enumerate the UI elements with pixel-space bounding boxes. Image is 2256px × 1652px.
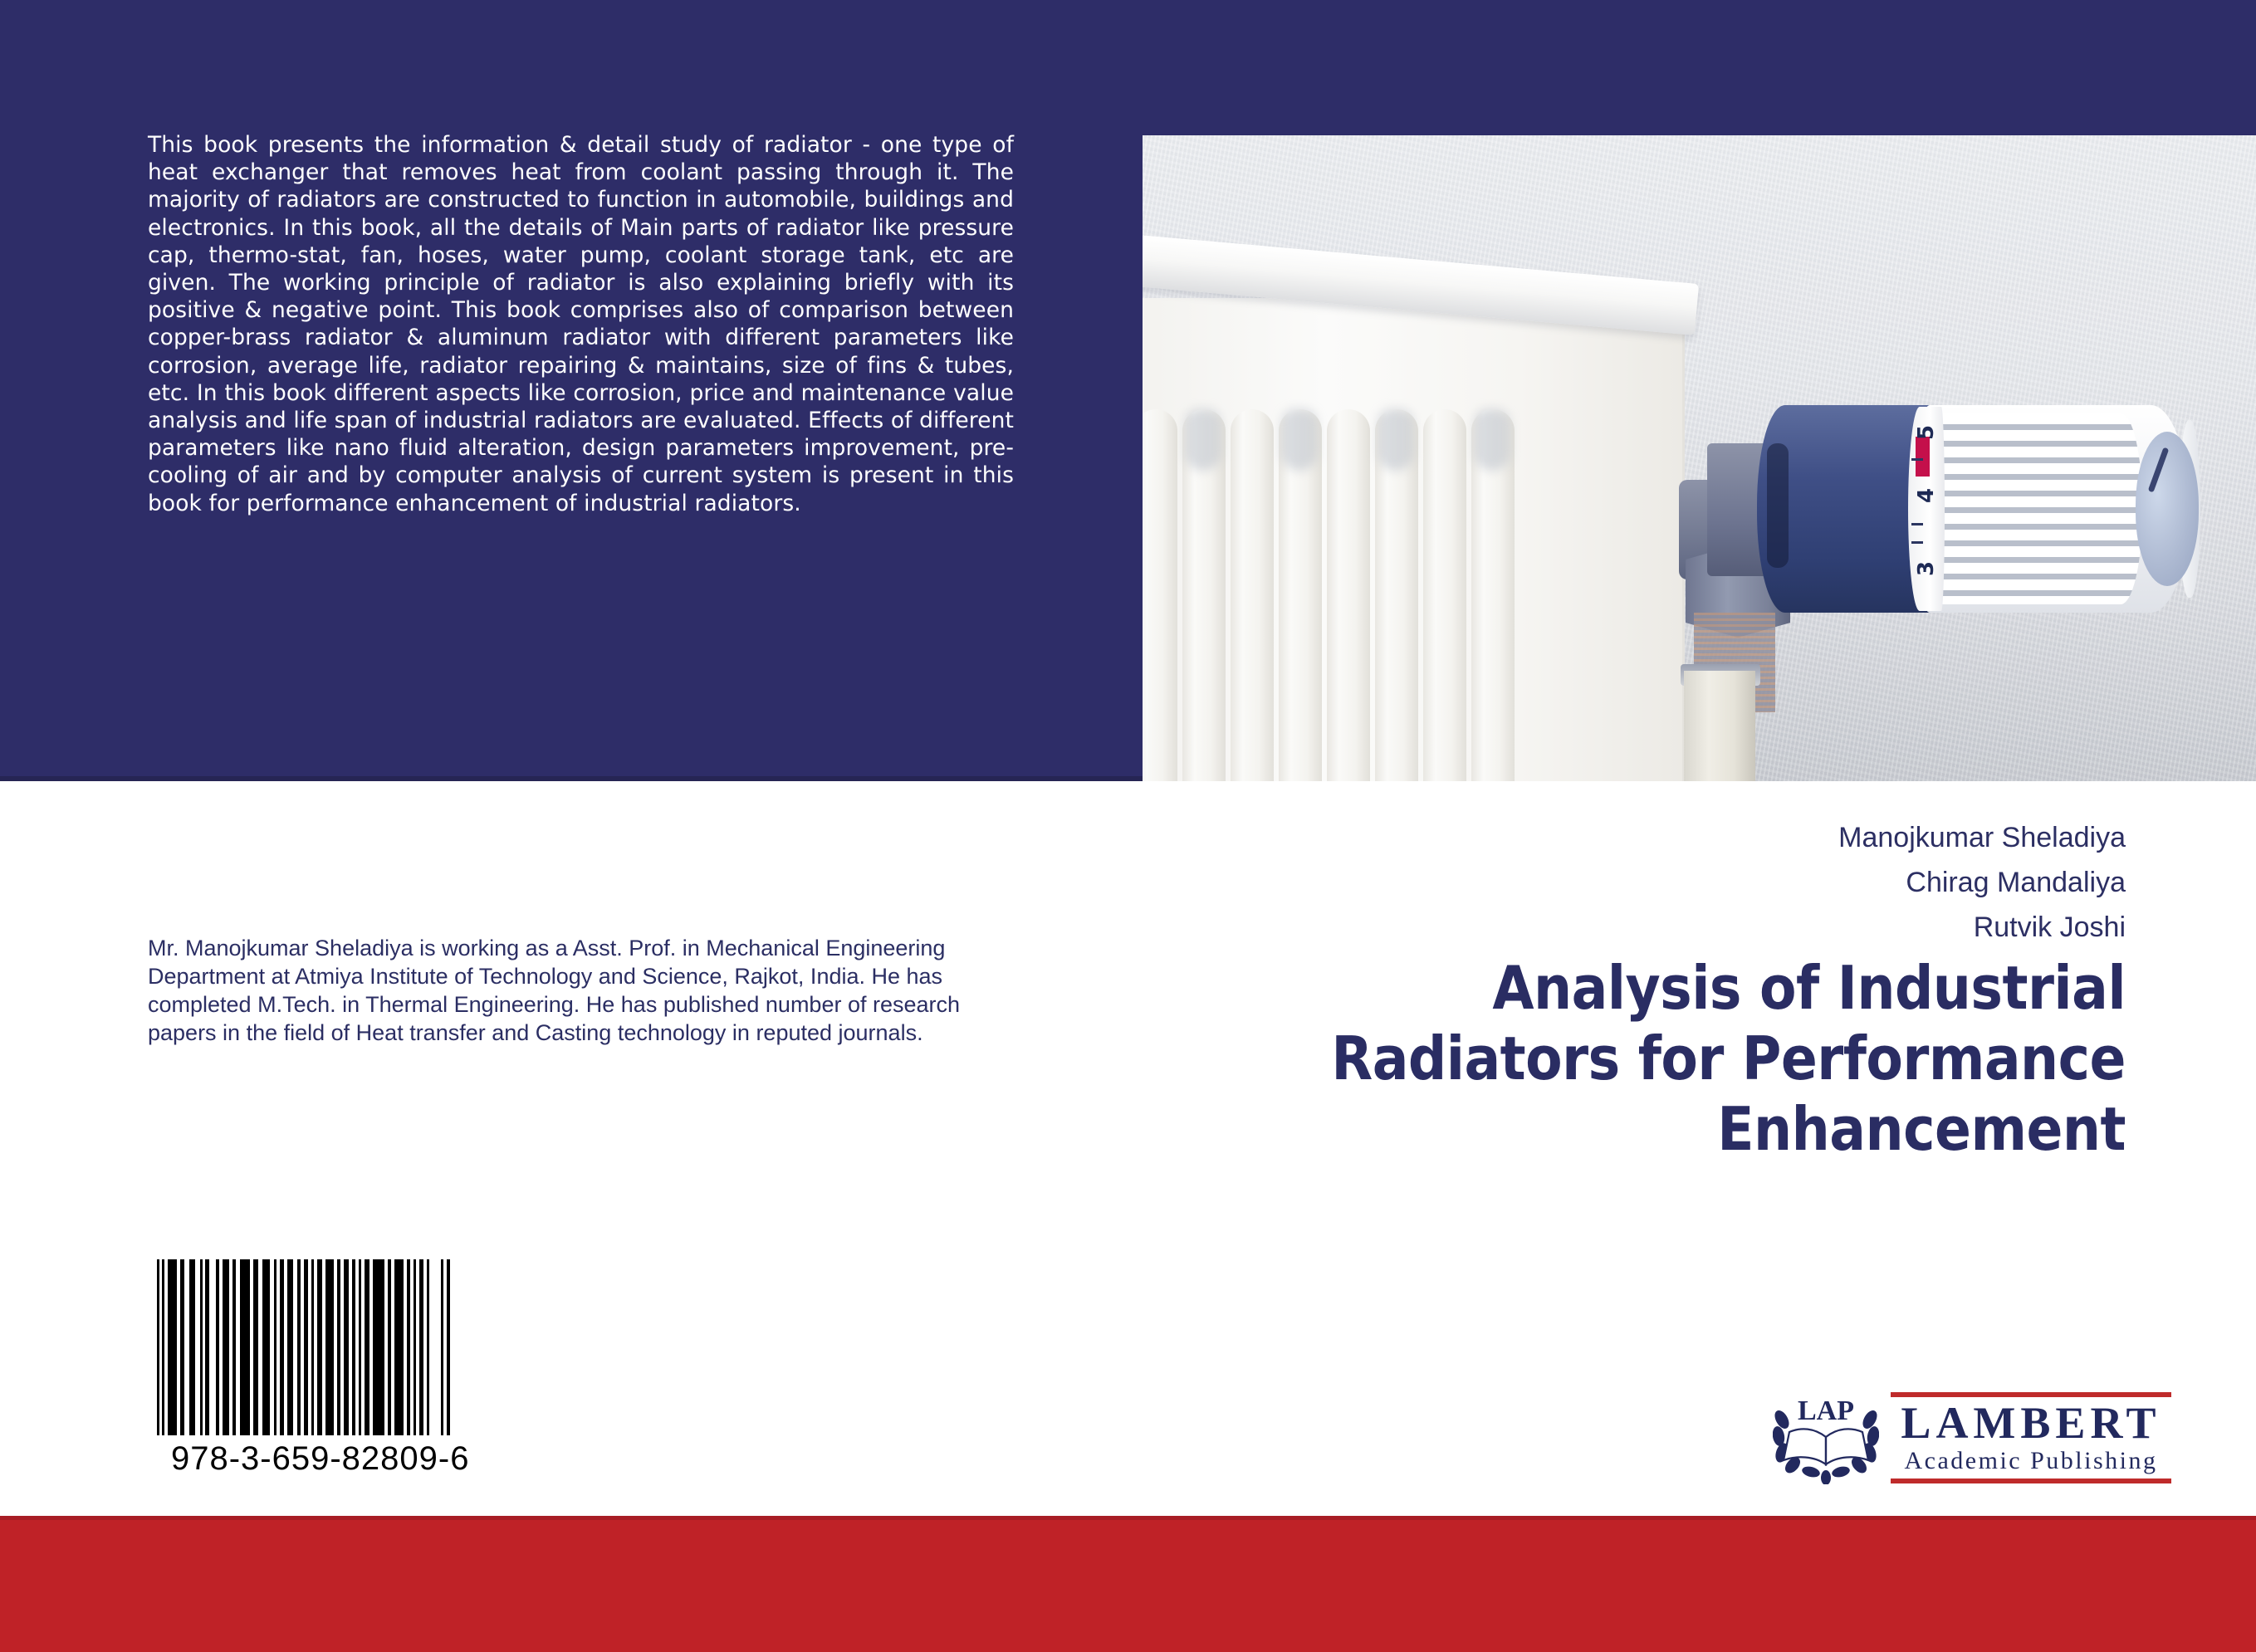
author-biography: Mr. Manojkumar Sheladiya is working as a… <box>148 934 991 1047</box>
book-title: Analysis of Industrial Radiators for Per… <box>1187 953 2126 1165</box>
radiator-fin <box>1327 409 1370 781</box>
dial-tick <box>1911 541 1923 544</box>
publisher-tagline: Academic Publishing <box>1891 1447 2171 1478</box>
radiator-fin <box>1143 409 1177 781</box>
radiator-fins <box>1143 409 1599 781</box>
valve-collar-notch <box>1767 443 1789 568</box>
isbn-number: 978-3-659-82809-6 <box>154 1440 482 1478</box>
fin-shadow <box>1186 409 1221 471</box>
title-line: Analysis of Industrial <box>1187 953 2126 1024</box>
thermostatic-valve: 5 4 3 <box>1641 281 2255 779</box>
book-cover: This book presents the information & det… <box>0 0 2256 1652</box>
dial-number-5: 5 <box>1914 416 1939 449</box>
publisher-wordmark: LAMBERT Academic Publishing <box>1891 1392 2171 1483</box>
radiator-fin <box>1423 409 1466 781</box>
logo-rule-bottom <box>1891 1478 2171 1483</box>
valve-head-ribs <box>1935 413 2142 604</box>
red-footer-band <box>0 1516 2256 1652</box>
dial-tick <box>1911 523 1923 525</box>
author-name: Manojkumar Sheladiya <box>1295 815 2126 860</box>
isbn-barcode-block: 978-3-659-82809-6 <box>154 1259 482 1478</box>
barcode-image <box>154 1259 468 1435</box>
dial-number-4: 4 <box>1914 479 1939 512</box>
radiator-fin <box>1231 409 1274 781</box>
title-line: Radiators for Performance <box>1187 1024 2126 1094</box>
dial-number-3: 3 <box>1914 552 1939 585</box>
dial-tick <box>1911 458 1923 461</box>
valve-number-dial: 5 4 3 <box>1908 407 1945 611</box>
valve-pipe <box>1684 671 1755 781</box>
fin-shadow <box>1282 409 1317 471</box>
back-cover-blurb: This book presents the information & det… <box>148 131 1014 517</box>
publisher-logo: LAP LAMBERT Academic Publishing <box>1773 1388 2171 1488</box>
svg-text:LAP: LAP <box>1798 1395 1854 1426</box>
fin-shadow <box>1378 409 1413 471</box>
title-line: Enhancement <box>1187 1094 2126 1165</box>
red-band-top-edge <box>0 1516 2256 1520</box>
cover-photo: 5 4 3 <box>1143 135 2256 781</box>
author-name: Chirag Mandaliya <box>1295 860 2126 905</box>
publisher-name: LAMBERT <box>1891 1397 2171 1447</box>
author-name: Rutvik Joshi <box>1295 905 2126 950</box>
front-cover-authors: Manojkumar Sheladiya Chirag Mandaliya Ru… <box>1295 815 2126 950</box>
valve-end-cap <box>2136 432 2199 586</box>
lap-emblem-icon: LAP <box>1773 1391 1879 1484</box>
fin-shadow <box>1475 409 1510 471</box>
